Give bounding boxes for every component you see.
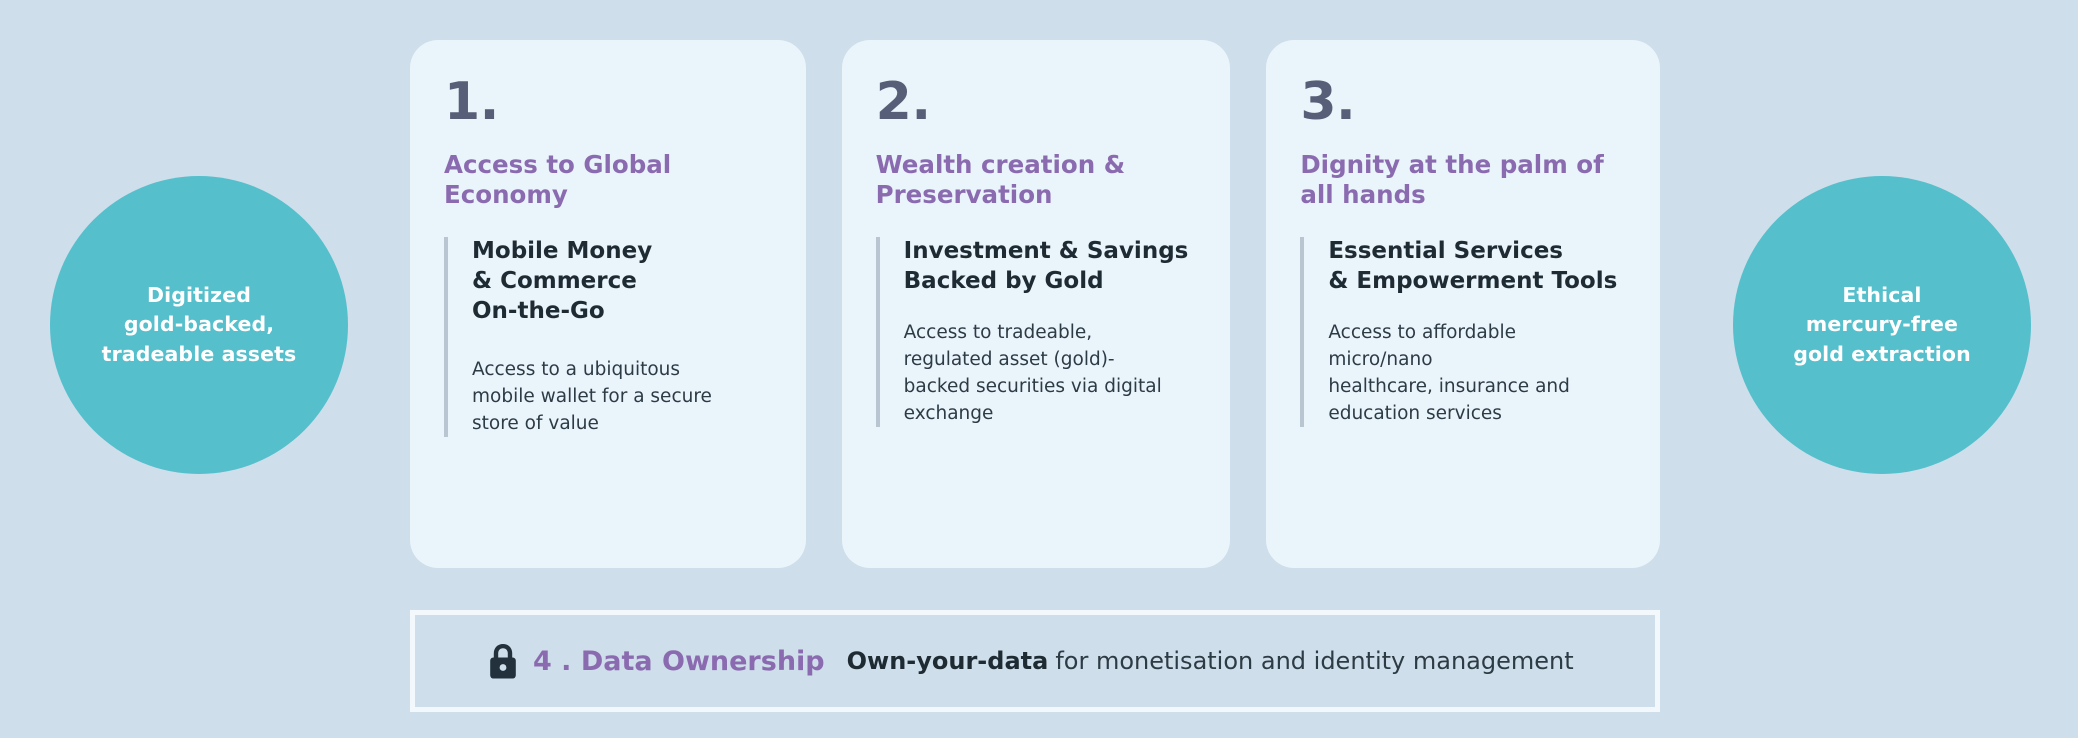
card-detail-block: Investment & Savings Backed by Gold Acce…	[876, 237, 1197, 427]
circle-ethical-extraction: Ethical mercury-free gold extraction	[1733, 176, 2031, 474]
card-wealth-creation-preservation[interactable]: 2. Wealth creation & Preservation Invest…	[842, 40, 1231, 568]
card-number: 2.	[876, 76, 1197, 128]
card-detail-block: Mobile Money & Commerce On-the-Go Access…	[444, 237, 772, 438]
card-dignity-at-palm-of-all-hands[interactable]: 3. Dignity at the palm of all hands Esse…	[1266, 40, 1660, 568]
own-your-data-strong: Own-your-data	[847, 647, 1049, 675]
data-ownership-label: 4 . Data Ownership	[533, 646, 825, 677]
cards-container: 1. Access to Global Economy Mobile Money…	[410, 40, 1660, 568]
card-number: 3.	[1300, 76, 1626, 128]
lock-icon	[487, 642, 519, 680]
card-detail-body: Access to a ubiquitous mobile wallet for…	[472, 356, 772, 437]
circle-digitized-assets: Digitized gold-backed, tradeable assets	[50, 176, 348, 474]
card-detail-heading: Investment & Savings Backed by Gold	[904, 237, 1197, 297]
card-detail-heading: Mobile Money & Commerce On-the-Go	[472, 237, 772, 327]
card-number: 1.	[444, 76, 772, 128]
data-ownership-bar[interactable]: 4 . Data Ownership Own-your-data for mon…	[410, 610, 1660, 712]
card-detail-body: Access to affordable micro/nano healthca…	[1328, 319, 1626, 427]
circle-right-text: Ethical mercury-free gold extraction	[1793, 281, 1971, 368]
card-detail-body: Access to tradeable, regulated asset (go…	[904, 319, 1197, 427]
circle-left-text: Digitized gold-backed, tradeable assets	[102, 281, 297, 368]
card-detail-block: Essential Services & Empowerment Tools A…	[1300, 237, 1626, 427]
card-subtitle: Access to Global Economy	[444, 150, 772, 211]
own-your-data-description: for monetisation and identity management	[1055, 647, 1573, 675]
card-detail-heading: Essential Services & Empowerment Tools	[1328, 237, 1626, 297]
card-subtitle: Wealth creation & Preservation	[876, 150, 1197, 211]
card-subtitle: Dignity at the palm of all hands	[1300, 150, 1626, 211]
card-access-to-global-economy[interactable]: 1. Access to Global Economy Mobile Money…	[410, 40, 806, 568]
